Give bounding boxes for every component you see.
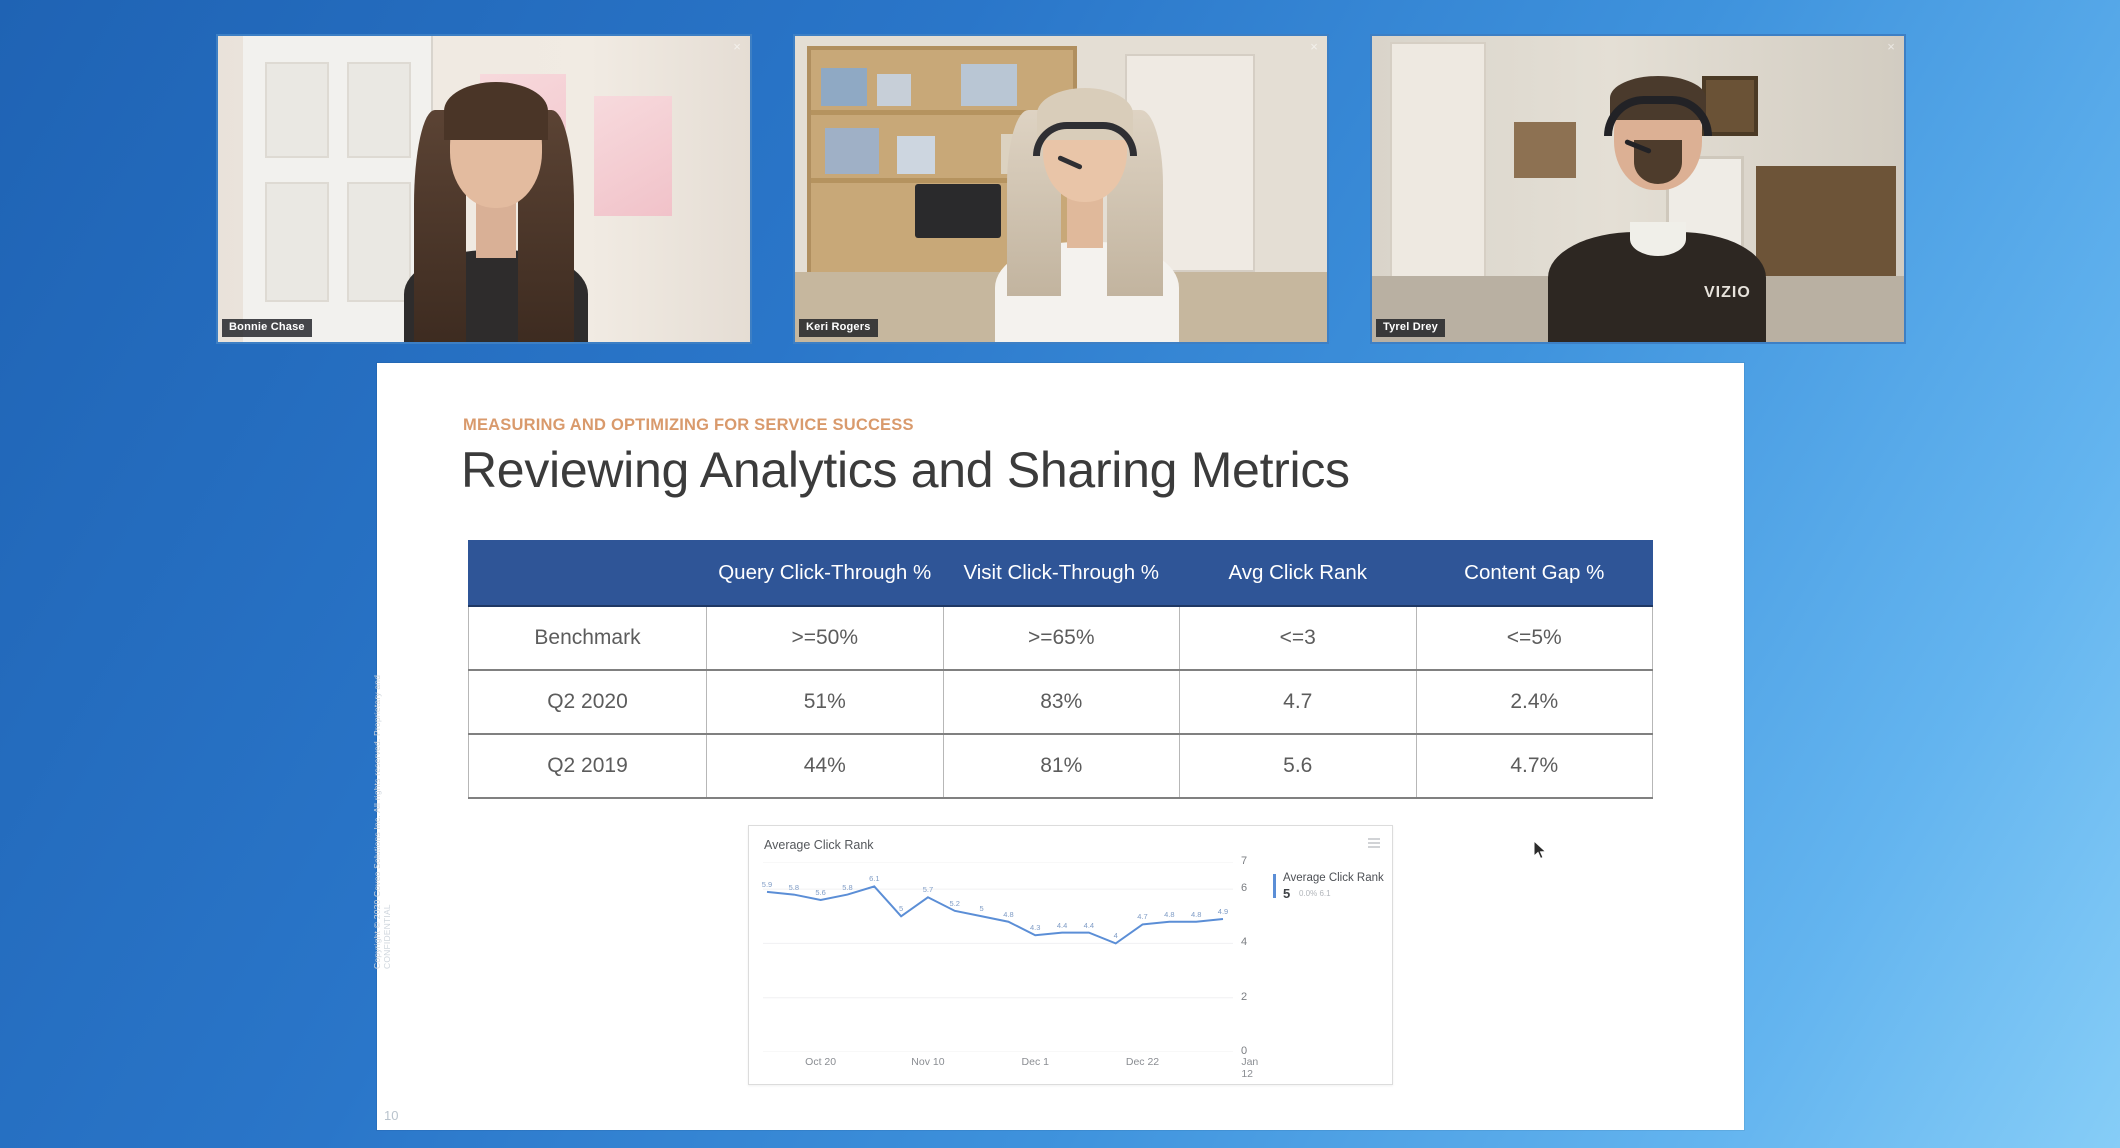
close-icon[interactable]: × <box>1307 40 1321 54</box>
row-label: Q2 2019 <box>469 734 707 798</box>
close-icon[interactable]: × <box>730 40 744 54</box>
chart-point-label: 5.6 <box>815 888 825 897</box>
slide-page-number: 10 <box>384 1108 398 1123</box>
copyright-line-1: Copyright © 2020 Coveo Solutions Inc. Al… <box>372 675 382 969</box>
participant-2-video-feed <box>795 36 1327 342</box>
chart-point-label: 4.9 <box>1218 907 1228 916</box>
slide-eyebrow: MEASURING AND OPTIMIZING FOR SERVICE SUC… <box>463 416 914 435</box>
video-tile-participant-3[interactable]: VIZIO × Tyrel Drey <box>1370 34 1906 344</box>
row-cell: 4.7% <box>1416 734 1653 798</box>
chart-point-label: 5.8 <box>842 883 852 892</box>
chart-point-label: 4.4 <box>1084 921 1094 930</box>
row-label: Q2 2020 <box>469 670 707 734</box>
row-cell: 4.7 <box>1180 670 1417 734</box>
row-label: Benchmark <box>469 606 707 670</box>
row-cell: 81% <box>943 734 1180 798</box>
participant-name-badge: Keri Rogers <box>799 319 878 337</box>
chart-point-label: 4.8 <box>1003 910 1013 919</box>
table-header-cell-2: Visit Click-Through % <box>943 541 1180 606</box>
participant-1-video-feed <box>218 36 750 342</box>
slide-copyright: Copyright © 2020 Coveo Solutions Inc. Al… <box>372 799 392 969</box>
chart-point-label: 5.9 <box>762 880 772 889</box>
participant-name-badge: Bonnie Chase <box>222 319 312 337</box>
row-cell: 83% <box>943 670 1180 734</box>
y-tick-label: 4 <box>1241 936 1247 948</box>
chart-x-axis: Oct 20Nov 10Dec 1Dec 22Jan 12 <box>763 1052 1233 1074</box>
row-cell: 44% <box>707 734 944 798</box>
chart-point-label: 4.4 <box>1057 921 1067 930</box>
row-cell: <=5% <box>1416 606 1653 670</box>
chart-y-axis: 02467 <box>1241 862 1267 1052</box>
chart-point-label: 4 <box>1114 931 1118 940</box>
video-tile-participant-1[interactable]: × Bonnie Chase <box>216 34 752 344</box>
page-title: Reviewing Analytics and Sharing Metrics <box>461 441 1350 499</box>
table-header-cell-3: Avg Click Rank <box>1180 541 1417 606</box>
video-participant-strip: × Bonnie Chase <box>216 34 1906 344</box>
mouse-pointer-icon <box>1534 841 1547 860</box>
chart-point-label: 4.7 <box>1137 912 1147 921</box>
x-tick-label: Dec 22 <box>1126 1056 1159 1068</box>
close-icon[interactable]: × <box>1884 40 1898 54</box>
chart-point-label: 5.7 <box>923 885 933 894</box>
analytics-chart-card[interactable]: Average Click Rank 5.95.85.65.86.155.75.… <box>748 825 1393 1085</box>
row-cell: 51% <box>707 670 944 734</box>
y-tick-label: 7 <box>1241 855 1247 867</box>
x-tick-label: Oct 20 <box>805 1056 836 1068</box>
legend-title: Average Click Rank <box>1283 872 1384 884</box>
row-cell: 2.4% <box>1416 670 1653 734</box>
table-header-cell-4: Content Gap % <box>1416 541 1653 606</box>
row-cell: >=50% <box>707 606 944 670</box>
table-header-cell-1: Query Click-Through % <box>707 541 944 606</box>
table-row: Benchmark >=50% >=65% <=3 <=5% <box>469 606 1653 670</box>
x-tick-label: Jan 12 <box>1241 1056 1258 1080</box>
copyright-line-2: CONFIDENTIAL <box>382 799 392 969</box>
table-header-cell-0 <box>469 541 707 606</box>
participant-3-video-feed: VIZIO <box>1372 36 1904 342</box>
table-row: Q2 2020 51% 83% 4.7 2.4% <box>469 670 1653 734</box>
chart-point-label: 6.1 <box>869 874 879 883</box>
chart-menu-icon[interactable] <box>1368 838 1380 850</box>
video-tile-participant-2[interactable]: × Keri Rogers <box>793 34 1329 344</box>
chart-title: Average Click Rank <box>764 838 874 852</box>
table-row: Q2 2019 44% 81% 5.6 4.7% <box>469 734 1653 798</box>
legend-delta: 0.0% 6.1 <box>1299 889 1331 898</box>
shirt-logo: VIZIO <box>1704 284 1751 302</box>
y-tick-label: 2 <box>1241 991 1247 1003</box>
chart-point-label: 4.3 <box>1030 923 1040 932</box>
chart-point-label: 4.8 <box>1191 910 1201 919</box>
legend-color-swatch <box>1273 874 1276 898</box>
chart-point-label: 5.8 <box>789 883 799 892</box>
table-header-row: Query Click-Through % Visit Click-Throug… <box>469 541 1653 606</box>
row-cell: >=65% <box>943 606 1180 670</box>
metrics-table: Query Click-Through % Visit Click-Throug… <box>468 540 1653 799</box>
chart-point-labels: 5.95.85.65.86.155.75.254.84.34.44.444.74… <box>763 862 1233 1052</box>
y-tick-label: 6 <box>1241 882 1247 894</box>
x-tick-label: Nov 10 <box>911 1056 944 1068</box>
row-cell: 5.6 <box>1180 734 1417 798</box>
participant-name-badge: Tyrel Drey <box>1376 319 1445 337</box>
chart-point-label: 5 <box>979 904 983 913</box>
legend-value: 5 <box>1283 886 1290 901</box>
chart-point-label: 4.8 <box>1164 910 1174 919</box>
chart-point-label: 5.2 <box>950 899 960 908</box>
row-cell: <=3 <box>1180 606 1417 670</box>
chart-point-label: 5 <box>899 904 903 913</box>
x-tick-label: Dec 1 <box>1022 1056 1049 1068</box>
